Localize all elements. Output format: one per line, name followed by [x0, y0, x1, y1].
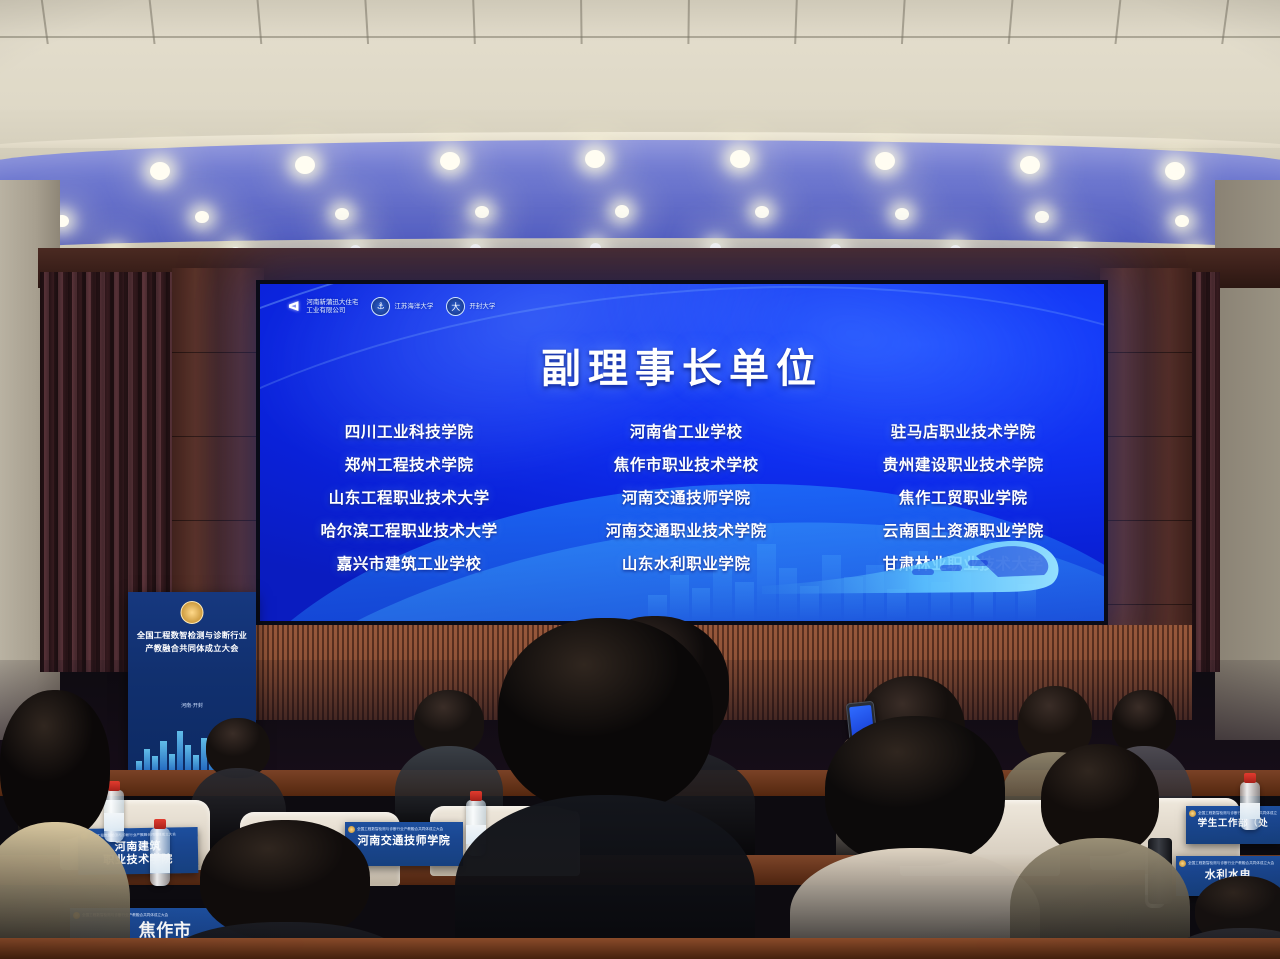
- slide-unit-column: 四川工业科技学院郑州工程技术学院山东工程职业技术大学哈尔滨工程职业技术大学嘉兴市…: [302, 420, 516, 574]
- slide-unit-name: 焦作工贸职业学院: [899, 486, 1028, 508]
- slide-unit-name: 哈尔滨工程职业技术大学: [321, 519, 498, 541]
- audience-member-foreground: [790, 716, 1040, 959]
- wood-panel-seam: [172, 520, 264, 521]
- wood-panel-seam: [172, 352, 264, 353]
- nameplate-header: 全国工程数智检测与诊断行业产教融合共同体成立大会: [1189, 809, 1277, 817]
- logo-jiangsu-ocean-university-icon: ⚓: [371, 297, 390, 316]
- audience-member-foreground: [0, 690, 130, 959]
- wood-panel-seam: [1100, 604, 1192, 605]
- wood-panel-seam: [1100, 520, 1192, 521]
- logo-henan-xinpu-icon: ᐊ: [285, 298, 302, 315]
- slide-unit-name: 贵州建设职业技术学院: [883, 453, 1044, 475]
- conference-photo-scene: ᐊ河南新蒲迅大住宅 工业有限公司⚓江苏海洋大学大开封大学 副理事长单位 四川工业…: [0, 0, 1280, 959]
- ceiling-downlight: [1175, 215, 1189, 228]
- slide-unit-name: 四川工业科技学院: [345, 420, 474, 442]
- table-nameplate: 全国工程数智检测与诊断行业产教融合共同体成立大会学生工作部（处: [1186, 806, 1280, 844]
- slide-logo-item: 大开封大学: [446, 297, 495, 316]
- slide-logo-item: ⚓江苏海洋大学: [371, 297, 433, 316]
- ceiling-downlight: [615, 205, 629, 218]
- slide-logo-label: 河南新蒲迅大住宅 工业有限公司: [306, 299, 358, 316]
- slide-unit-name: 郑州工程技术学院: [345, 453, 474, 475]
- water-bottle: [150, 828, 170, 886]
- ceiling-downlight: [895, 208, 909, 221]
- wood-panel-seam: [1100, 352, 1192, 353]
- wood-panel-seam: [172, 436, 264, 437]
- audience-head: [825, 716, 1005, 866]
- nameplate-caption: 全国工程数智检测与诊断行业产教融合共同体成立大会: [1188, 861, 1274, 866]
- slide-unit-name: 焦作市职业技术学校: [614, 453, 759, 475]
- wood-panel-seam: [1100, 436, 1192, 437]
- banner-line-1: 全国工程数智检测与诊断行业: [128, 629, 256, 641]
- slide-unit-name: 河南省工业学校: [630, 420, 743, 442]
- bottle-label: [1240, 803, 1260, 819]
- slide-logo-row: ᐊ河南新蒲迅大住宅 工业有限公司⚓江苏海洋大学大开封大学: [285, 297, 495, 316]
- slide-unit-name: 河南交通职业技术学院: [606, 519, 767, 541]
- audience-member-foreground: [455, 618, 755, 959]
- water-bottle: [1240, 782, 1260, 830]
- ceiling-grid-rail: [0, 36, 1280, 38]
- slide-unit-name: 河南交通技师学院: [622, 486, 751, 508]
- bottle-cap: [1244, 773, 1256, 783]
- slide-logo-label: 江苏海洋大学: [394, 303, 433, 311]
- slide-unit-name: 驻马店职业技术学院: [891, 420, 1036, 442]
- presentation-slide: ᐊ河南新蒲迅大住宅 工业有限公司⚓江苏海洋大学大开封大学 副理事长单位 四川工业…: [260, 284, 1104, 621]
- ceiling-downlight: [150, 162, 170, 180]
- banner-emblem-icon: [181, 601, 204, 624]
- ceiling-downlight: [1165, 162, 1185, 180]
- audience-head: [498, 618, 713, 813]
- banner-line-2: 产教融合共同体成立大会: [128, 642, 256, 654]
- nameplate-organization: 学生工作部（处: [1186, 819, 1280, 830]
- high-speed-train-graphic: [762, 522, 1062, 608]
- logo-kaifeng-university-icon: 大: [446, 297, 465, 316]
- ceiling-downlight: [335, 208, 349, 221]
- audience-table-front: [0, 938, 1280, 959]
- nameplate-seal-icon: [1189, 810, 1196, 817]
- ceiling-downlight: [755, 206, 769, 219]
- slide-unit-name: 山东水利职业学院: [622, 552, 751, 574]
- ceiling-downlight: [475, 206, 489, 219]
- slide-logo-item: ᐊ河南新蒲迅大住宅 工业有限公司: [285, 298, 358, 315]
- nameplate-caption: 全国工程数智检测与诊断行业产教融合共同体成立大会: [1198, 811, 1277, 816]
- bottle-label: [150, 854, 170, 874]
- slide-unit-name: 嘉兴市建筑工业学校: [337, 552, 482, 574]
- slide-title: 副理事长单位: [260, 336, 1104, 394]
- audience-torso: [455, 795, 755, 959]
- ceiling-grid: [0, 0, 1280, 44]
- led-screen: ᐊ河南新蒲迅大住宅 工业有限公司⚓江苏海洋大学大开封大学 副理事长单位 四川工业…: [256, 280, 1108, 625]
- audience-member-foreground: [1010, 744, 1190, 959]
- slide-logo-label: 开封大学: [469, 303, 495, 311]
- audience-head: [0, 690, 110, 840]
- nameplate-header: 全国工程数智检测与诊断行业产教融合共同体成立大会: [1179, 859, 1277, 867]
- slide-unit-name: 山东工程职业技术大学: [329, 486, 490, 508]
- banner-subtitle: 河南·开封: [128, 702, 256, 709]
- bottle-cap: [154, 819, 166, 829]
